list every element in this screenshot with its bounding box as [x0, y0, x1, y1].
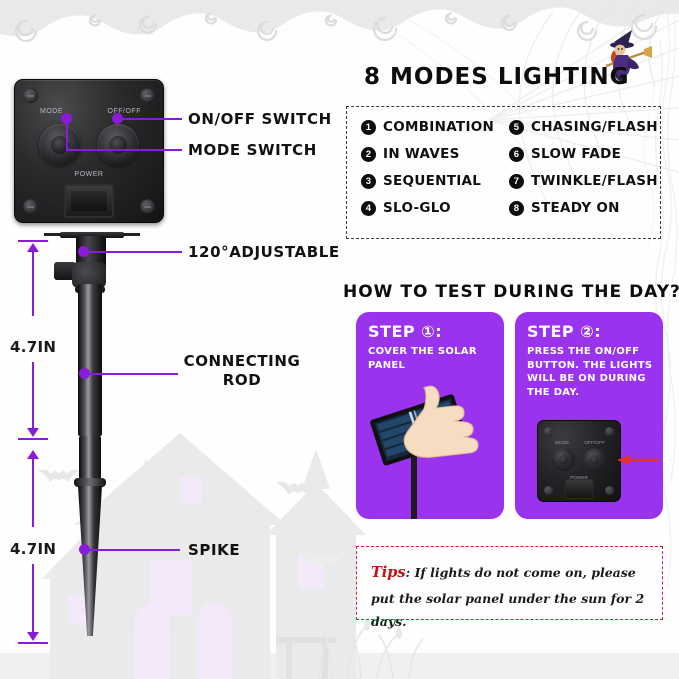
mode-button-label: MODE	[40, 108, 63, 115]
mode-number: 2	[361, 147, 376, 162]
red-pointer-arrow-icon	[617, 454, 659, 466]
measure-rod-value: 4.7IN	[10, 338, 56, 356]
screw-icon	[23, 199, 38, 214]
screw-icon	[140, 88, 155, 103]
screw-icon	[544, 486, 553, 495]
mode-item: 2 IN WAVES	[361, 146, 509, 162]
mode-item: 7 TWINKLE/FLASH	[509, 173, 658, 189]
control-panel-thumbnail: MODE OFF/OFF POWER	[537, 420, 621, 502]
mode-item: 8 STEADY ON	[509, 200, 658, 216]
mode-label: CHASING/FLASH	[531, 119, 658, 135]
step-2-card: STEP ②: PRESS THE ON/OFF BUTTON. THE LIG…	[515, 312, 663, 519]
mode-number: 5	[509, 120, 524, 135]
screw-icon	[605, 427, 614, 436]
battery-cap-small	[565, 479, 594, 499]
mode-button-label-small: MODE	[555, 440, 569, 445]
callout-onoff-switch-label: ON/OFF SWITCH	[188, 110, 332, 128]
screw-icon	[544, 427, 553, 436]
info-column: 8 MODES LIGHTING 1 COMBINATION 5 CHASING…	[340, 0, 679, 679]
mode-item: 3 SEQUENTIAL	[361, 173, 509, 189]
mode-label: IN WAVES	[383, 146, 460, 162]
ground-spike	[78, 486, 102, 636]
mode-button-small[interactable]	[552, 448, 575, 471]
mode-label: TWINKLE/FLASH	[531, 173, 658, 189]
mode-label: SEQUENTIAL	[383, 173, 481, 189]
step-1-title: STEP ①:	[368, 322, 442, 341]
mode-number: 8	[509, 201, 524, 216]
mode-button[interactable]	[39, 124, 81, 166]
screw-icon	[140, 199, 155, 214]
onoff-button[interactable]	[97, 124, 139, 166]
mode-number: 3	[361, 174, 376, 189]
power-label: POWER	[75, 171, 104, 178]
callout-connecting-rod-label: CONNECTING ROD	[182, 352, 302, 390]
mode-item: 6 SLOW FADE	[509, 146, 658, 162]
solar-panel-control-unit: MODE OFF/OFF POWER	[14, 79, 164, 223]
battery-cap	[64, 184, 114, 218]
mode-label: STEADY ON	[531, 200, 620, 216]
mode-label: COMBINATION	[383, 119, 494, 135]
mode-item: 4 SLO-GLO	[361, 200, 509, 216]
mode-number: 4	[361, 201, 376, 216]
step-2-body: PRESS THE ON/OFF BUTTON. THE LIGHTS WILL…	[527, 345, 655, 399]
mode-label: SLO-GLO	[383, 200, 451, 216]
mode-label: SLOW FADE	[531, 146, 621, 162]
test-section-title: HOW TO TEST DURING THE DAY?	[343, 282, 679, 302]
spike-ring	[74, 478, 106, 487]
tips-keyword: Tips	[371, 564, 406, 581]
measure-spike-value: 4.7IN	[10, 540, 56, 558]
mode-number: 7	[509, 174, 524, 189]
product-diagram: MODE OFF/OFF POWER 4.7IN	[0, 0, 340, 679]
spike-top	[79, 436, 101, 480]
connecting-rod	[78, 284, 102, 436]
onoff-button-label-small: OFF/OFF	[584, 440, 605, 445]
tips-body: : If lights do not come on, please put t…	[371, 565, 644, 629]
step-1-body: COVER THE SOLAR PANEL	[368, 345, 496, 372]
screw-icon	[23, 88, 38, 103]
callout-mode-switch-label: MODE SWITCH	[188, 141, 317, 159]
infographic-page: MODE OFF/OFF POWER 4.7IN	[0, 0, 679, 679]
onoff-button-small[interactable]	[583, 448, 606, 471]
callout-spike-label: SPIKE	[188, 541, 240, 559]
mode-item: 1 COMBINATION	[361, 119, 509, 135]
modes-list-box: 1 COMBINATION 5 CHASING/FLASH 2 IN WAVES…	[346, 106, 661, 239]
modes-grid: 1 COMBINATION 5 CHASING/FLASH 2 IN WAVES…	[361, 119, 650, 216]
mode-number: 6	[509, 147, 524, 162]
step-1-card: STEP ①: COVER THE SOLAR PANEL	[356, 312, 504, 519]
mode-number: 1	[361, 120, 376, 135]
modes-section-title: 8 MODES LIGHTING	[364, 64, 630, 90]
tips-box: Tips: If lights do not come on, please p…	[356, 546, 663, 620]
callout-adjustable-label: 120°ADJUSTABLE	[188, 243, 340, 261]
mode-item: 5 CHASING/FLASH	[509, 119, 658, 135]
hand-covering-solar-panel-icon	[356, 380, 504, 519]
step-2-title: STEP ②:	[527, 322, 601, 341]
screw-icon	[605, 486, 614, 495]
tips-paragraph: Tips: If lights do not come on, please p…	[371, 560, 648, 633]
